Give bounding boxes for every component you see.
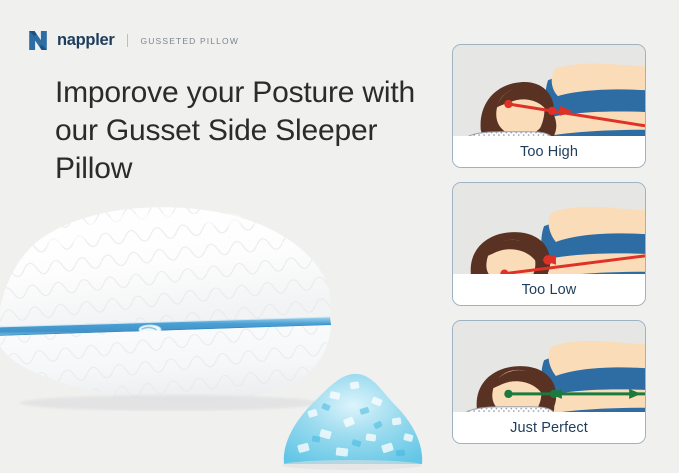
brand-lockup: nappler GUSSETED PILLOW (28, 30, 239, 51)
brand-divider (127, 34, 128, 47)
card-too-high[interactable]: Too High (452, 44, 646, 168)
foam-illustration (278, 352, 428, 470)
card-label-too-high: Too High (453, 136, 645, 167)
nappler-n-mark-icon (28, 30, 48, 51)
brand-name: nappler (57, 32, 115, 49)
card-label-too-low: Too Low (453, 274, 645, 305)
card-just-perfect[interactable]: Just Perfect (452, 320, 646, 444)
card-label-just-perfect: Just Perfect (453, 412, 645, 443)
card-too-low[interactable]: Too Low (452, 182, 646, 306)
page-headline: Imporove your Posture with our Gusset Si… (55, 74, 435, 188)
posture-comparison-cards: Too High (452, 44, 646, 444)
shredded-foam-pile (278, 352, 428, 470)
product-photo-group (0, 196, 430, 473)
brand-tagline: GUSSETED PILLOW (141, 36, 240, 46)
